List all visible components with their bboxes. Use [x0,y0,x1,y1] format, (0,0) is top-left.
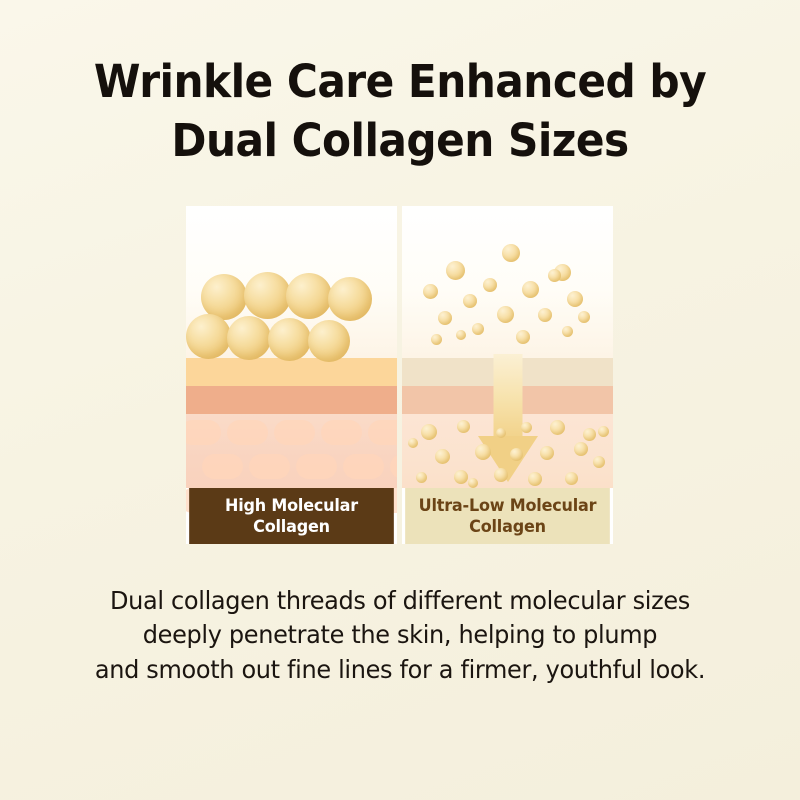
product-benefit-poster: Wrinkle Care Enhanced by Dual Collagen S… [0,0,800,800]
small-collagen-particle [472,323,484,335]
body-description: Dual collagen threads of different molec… [35,584,765,687]
small-collagen-particle [510,448,523,461]
caption-left-line-1: High Molecular [225,496,358,515]
arrow-shaft [493,354,522,440]
body-line-1: Dual collagen threads of different molec… [50,584,751,618]
dermis-cell [249,454,290,479]
small-collagen-particle [475,444,491,460]
small-collagen-particle [468,478,478,488]
small-collagen-particle [521,422,532,433]
small-collagen-particle [574,442,588,456]
small-collagen-particle [548,269,561,282]
panel-ultra-low-molecular: Ultra-Low Molecular Collagen [402,206,613,544]
small-collagen-particle [562,326,573,337]
dermis-cell-pattern [186,414,397,488]
small-collagen-particle [431,334,442,345]
small-collagen-particle [540,446,554,460]
small-collagen-particle [494,468,508,482]
small-collagen-particle [435,449,450,464]
large-collagen-sphere [308,320,350,362]
dermis-cell [368,420,397,445]
caption-ultra-low-molecular: Ultra-Low Molecular Collagen [405,488,610,544]
small-collagen-particle [454,470,468,484]
title-line-1: Wrinkle Care Enhanced by [62,52,739,111]
small-collagen-particle [456,330,466,340]
title-line-2: Dual Collagen Sizes [62,111,739,170]
epidermis-layer [186,358,397,386]
caption-high-molecular: High Molecular Collagen [189,488,394,544]
large-collagen-sphere [328,277,372,321]
dermis-upper-layer [186,386,397,414]
small-collagen-particle [502,244,520,262]
small-collagen-particle [421,424,437,440]
large-collagen-sphere [286,273,332,319]
small-collagen-particle [497,306,514,323]
dermis-cell [202,454,243,479]
small-collagen-particle [483,278,497,292]
small-collagen-particle [567,291,583,307]
small-collagen-particle [550,420,565,435]
large-collagen-sphere [268,318,311,361]
small-collagen-particle [516,330,530,344]
small-collagen-particle [565,472,578,485]
dermis-cell [321,420,362,445]
small-collagen-particle [446,261,465,280]
panel-high-molecular: High Molecular Collagen [186,206,397,544]
page-title: Wrinkle Care Enhanced by Dual Collagen S… [62,52,739,171]
dermis-cell [296,454,337,479]
large-collagen-sphere [244,272,291,319]
small-collagen-particle [578,311,590,323]
small-collagen-particle [528,472,542,486]
small-collagen-particle [416,472,427,483]
small-collagen-particle [408,438,418,448]
body-line-3: and smooth out fine lines for a firmer, … [50,653,751,687]
small-collagen-particle [438,311,452,325]
small-collagen-particle [598,426,609,437]
small-collagen-particle [463,294,477,308]
small-collagen-particle [457,420,470,433]
small-collagen-particle [496,428,506,438]
comparison-figure: High Molecular Collagen Ultra-Low Molecu [186,206,614,544]
large-collagen-sphere [227,316,271,360]
dermis-cell [227,420,268,445]
caption-right-line-1: Ultra-Low Molecular [419,496,597,515]
dermis-layer [186,414,397,488]
large-collagen-sphere [186,314,231,359]
body-line-2: deeply penetrate the skin, helping to pl… [50,618,751,652]
small-collagen-particle [522,281,539,298]
caption-left-line-2: Collagen [253,517,330,536]
caption-right-line-2: Collagen [469,517,546,536]
dermis-cell [186,420,221,445]
dermis-cell [274,420,315,445]
dermis-cell [390,454,397,479]
small-collagen-particle [538,308,552,322]
downward-penetration-arrow-icon [478,354,538,482]
dermis-cell [343,454,384,479]
small-collagen-particle [583,428,596,441]
small-collagen-particle [423,284,438,299]
small-collagen-particle [593,456,605,468]
